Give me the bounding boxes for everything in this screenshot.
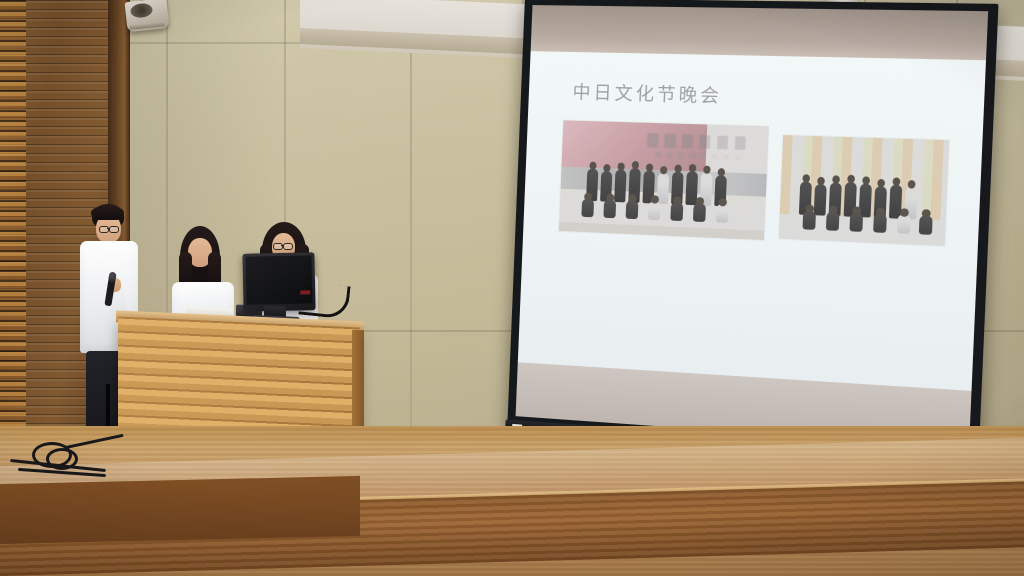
slide-photo-row <box>559 120 950 248</box>
projected-slide: 中日文化节晚会 <box>518 51 986 391</box>
wood-wall-edge <box>0 0 26 500</box>
photo-left-group <box>559 120 769 240</box>
photo-right-group <box>779 135 949 246</box>
slide-photo-right <box>779 135 949 246</box>
screen-frame: 中日文化节晚会 <box>507 0 998 466</box>
stage-cables <box>10 438 130 484</box>
stage-step <box>0 476 360 544</box>
screen-surface: 中日文化节晚会 <box>516 5 989 448</box>
slide-photo-left <box>559 120 769 240</box>
photograph-scene: 中日文化节晚会 <box>0 0 1024 576</box>
slide-title: 中日文化节晚会 <box>572 78 952 114</box>
projection-screen: 中日文化节晚会 <box>507 0 998 466</box>
wall-speaker-icon <box>125 0 170 32</box>
